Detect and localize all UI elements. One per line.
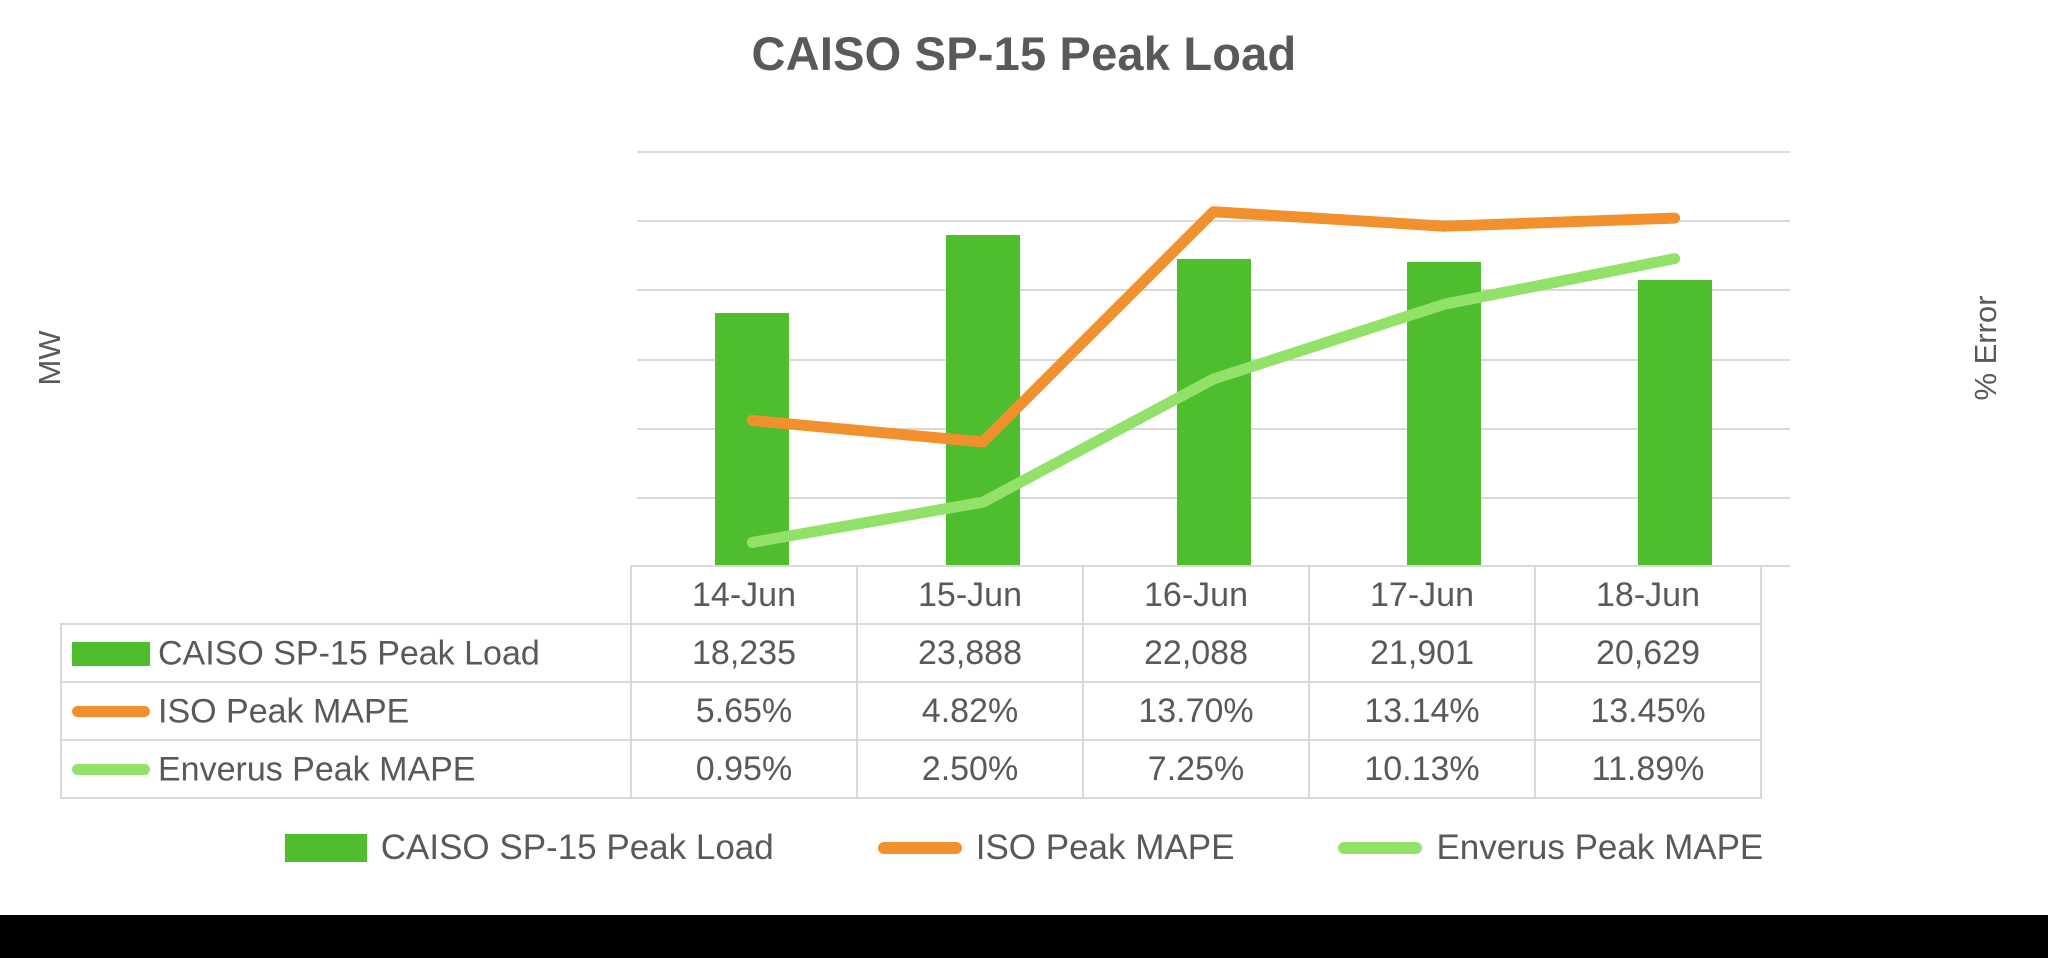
legend-item[interactable]: Enverus Peak MAPE — [1338, 828, 1763, 868]
table-row: ISO Peak MAPE5.65%4.82%13.70%13.14%13.45… — [61, 682, 1761, 740]
legend-key-bar-icon — [72, 642, 150, 666]
y-axis-right-title: % Error — [1968, 268, 2004, 428]
table-row: Enverus Peak MAPE0.95%2.50%7.25%10.13%11… — [61, 740, 1761, 798]
line-path — [752, 212, 1674, 442]
chart-card: CAISO SP-15 Peak Load MW % Error 05,0001… — [0, 0, 2048, 915]
table-cell: 13.14% — [1309, 682, 1535, 740]
legend-item-label: Enverus Peak MAPE — [1436, 828, 1763, 868]
chart-legend: CAISO SP-15 Peak LoadISO Peak MAPEEnveru… — [0, 828, 2048, 868]
table-column-header: 14-Jun — [631, 566, 857, 624]
table-row-label-text: CAISO SP-15 Peak Load — [158, 634, 540, 672]
legend-item[interactable]: CAISO SP-15 Peak Load — [285, 828, 774, 868]
table-column-header: 17-Jun — [1309, 566, 1535, 624]
plot-area: 05,00010,00015,00020,00025,00030,000 0.0… — [637, 152, 1790, 567]
table-cell: 11.89% — [1535, 740, 1761, 798]
table-row-label-text: ISO Peak MAPE — [158, 692, 409, 730]
table-cell: 5.65% — [631, 682, 857, 740]
table-cell: 21,901 — [1309, 624, 1535, 682]
table-row-label: CAISO SP-15 Peak Load — [61, 624, 631, 682]
legend-key-line-icon — [72, 764, 150, 775]
legend-item-label: CAISO SP-15 Peak Load — [381, 828, 774, 868]
table-header-row: 14-Jun15-Jun16-Jun17-Jun18-Jun — [61, 566, 1761, 624]
table-column-header: 15-Jun — [857, 566, 1083, 624]
table-cell: 23,888 — [857, 624, 1083, 682]
table-cell: 7.25% — [1083, 740, 1309, 798]
legend-item[interactable]: ISO Peak MAPE — [878, 828, 1235, 868]
legend-line-swatch-icon — [878, 842, 962, 854]
table-row: CAISO SP-15 Peak Load18,23523,88822,0882… — [61, 624, 1761, 682]
legend-key-line-icon — [72, 706, 150, 717]
table-column-header: 16-Jun — [1083, 566, 1309, 624]
table-cell: 18,235 — [631, 624, 857, 682]
table-cell: 0.95% — [631, 740, 857, 798]
table-column-header: 18-Jun — [1535, 566, 1761, 624]
table-row-label: ISO Peak MAPE — [61, 682, 631, 740]
page-title: CAISO SP-15 Peak Load — [0, 26, 2048, 81]
table-row-label: Enverus Peak MAPE — [61, 740, 631, 798]
table-corner-cell — [61, 566, 631, 624]
table-cell: 13.45% — [1535, 682, 1761, 740]
screenshot-stage: CAISO SP-15 Peak Load MW % Error 05,0001… — [0, 0, 2048, 958]
data-table: 14-Jun15-Jun16-Jun17-Jun18-JunCAISO SP-1… — [60, 565, 1762, 799]
table-cell: 2.50% — [857, 740, 1083, 798]
table-cell: 20,629 — [1535, 624, 1761, 682]
table-row-label-text: Enverus Peak MAPE — [158, 750, 475, 788]
table-cell: 4.82% — [857, 682, 1083, 740]
table-cell: 22,088 — [1083, 624, 1309, 682]
legend-item-label: ISO Peak MAPE — [976, 828, 1235, 868]
line-series — [637, 152, 1790, 567]
table-cell: 10.13% — [1309, 740, 1535, 798]
legend-bar-swatch-icon — [285, 834, 367, 862]
legend-line-swatch-icon — [1338, 842, 1422, 854]
line-path — [752, 259, 1674, 543]
table-cell: 13.70% — [1083, 682, 1309, 740]
y-axis-left-title: MW — [32, 278, 68, 438]
